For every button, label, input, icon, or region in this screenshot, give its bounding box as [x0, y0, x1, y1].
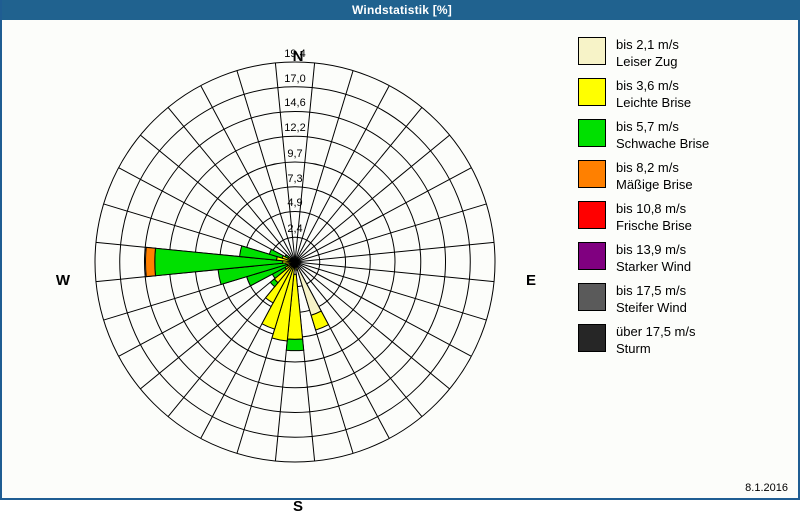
window-titlebar: Windstatistik [%] — [2, 0, 800, 20]
legend-speed-range: bis 5,7 m/s — [616, 118, 709, 135]
legend-item: bis 5,7 m/sSchwache Brise — [578, 118, 788, 152]
legend-class-name: Frische Brise — [616, 217, 692, 234]
legend: bis 2,1 m/sLeiser Zugbis 3,6 m/sLeichte … — [578, 36, 788, 364]
window-title: Windstatistik [%] — [352, 3, 452, 17]
legend-item: bis 10,8 m/sFrische Brise — [578, 200, 788, 234]
legend-class-name: Schwache Brise — [616, 135, 709, 152]
legend-class-name: Sturm — [616, 340, 696, 357]
legend-label: bis 17,5 m/sSteifer Wind — [616, 282, 687, 316]
legend-class-name: Leiser Zug — [616, 53, 679, 70]
legend-speed-range: über 17,5 m/s — [616, 323, 696, 340]
legend-color-swatch — [578, 201, 606, 229]
grid-spoke — [295, 262, 486, 320]
legend-color-swatch — [578, 78, 606, 106]
legend-item: bis 2,1 m/sLeiser Zug — [578, 36, 788, 70]
grid-spoke — [295, 262, 422, 417]
wind-rose-segment — [146, 247, 156, 276]
legend-color-swatch — [578, 242, 606, 270]
legend-item: bis 17,5 m/sSteifer Wind — [578, 282, 788, 316]
date-stamp: 8.1.2016 — [745, 482, 788, 494]
legend-label: bis 8,2 m/sMäßige Brise — [616, 159, 693, 193]
wind-rose-chart: N S W E 2,44,97,39,712,214,617,019,4 — [2, 20, 562, 498]
legend-speed-range: bis 2,1 m/s — [616, 36, 679, 53]
wind-rose-svg — [2, 20, 562, 498]
radial-tick-label: 2,4 — [268, 223, 322, 235]
legend-label: bis 3,6 m/sLeichte Brise — [616, 77, 691, 111]
legend-color-swatch — [578, 283, 606, 311]
legend-class-name: Leichte Brise — [616, 94, 691, 111]
legend-speed-range: bis 17,5 m/s — [616, 282, 687, 299]
legend-color-swatch — [578, 37, 606, 65]
legend-color-swatch — [578, 119, 606, 147]
legend-class-name: Starker Wind — [616, 258, 691, 275]
legend-item: bis 8,2 m/sMäßige Brise — [578, 159, 788, 193]
legend-label: bis 10,8 m/sFrische Brise — [616, 200, 692, 234]
radial-tick-label: 14,6 — [268, 97, 322, 109]
radial-tick-label: 7,3 — [268, 173, 322, 185]
radial-tick-label: 4,9 — [268, 197, 322, 209]
legend-item: bis 13,9 m/sStarker Wind — [578, 241, 788, 275]
grid-spoke — [295, 204, 486, 262]
legend-item: über 17,5 m/sSturm — [578, 323, 788, 357]
legend-label: bis 13,9 m/sStarker Wind — [616, 241, 691, 275]
radial-tick-label: 12,2 — [268, 122, 322, 134]
legend-item: bis 3,6 m/sLeichte Brise — [578, 77, 788, 111]
legend-class-name: Mäßige Brise — [616, 176, 693, 193]
legend-label: bis 5,7 m/sSchwache Brise — [616, 118, 709, 152]
legend-label: über 17,5 m/sSturm — [616, 323, 696, 357]
legend-speed-range: bis 13,9 m/s — [616, 241, 691, 258]
legend-speed-range: bis 10,8 m/s — [616, 200, 692, 217]
axis-label-east: E — [501, 272, 561, 289]
wind-statistics-window: Windstatistik [%] N S W E 2,44,97,39,712… — [0, 0, 800, 500]
radial-tick-label: 9,7 — [268, 148, 322, 160]
legend-color-swatch — [578, 324, 606, 352]
axis-label-south: S — [268, 498, 328, 515]
wind-rose-segment — [311, 311, 328, 330]
legend-color-swatch — [578, 160, 606, 188]
wind-rose-segment — [286, 339, 303, 351]
axis-label-west: W — [33, 272, 93, 289]
legend-class-name: Steifer Wind — [616, 299, 687, 316]
radial-tick-label: 19,4 — [268, 48, 322, 60]
legend-speed-range: bis 8,2 m/s — [616, 159, 693, 176]
legend-speed-range: bis 3,6 m/s — [616, 77, 691, 94]
legend-label: bis 2,1 m/sLeiser Zug — [616, 36, 679, 70]
radial-tick-label: 17,0 — [268, 73, 322, 85]
